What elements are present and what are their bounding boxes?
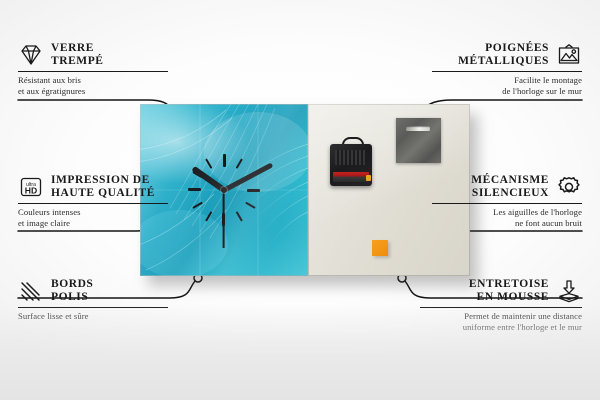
gear-icon [556, 175, 582, 199]
ultra-hd-large-text: HD [25, 185, 37, 195]
callout-sub-line1: Permet de maintenir une distance [420, 311, 582, 322]
callout-rule [18, 71, 168, 72]
callout-entretoise-en-mousse[interactable]: ENTRETOISE EN MOUSSE Permet de maintenir… [420, 278, 582, 333]
callout-title-line1: ENTRETOISE [469, 278, 549, 291]
polished-edges-icon [18, 279, 44, 303]
callout-bords-polis[interactable]: BORDS POLIS Surface lisse et sûre [18, 278, 168, 322]
callout-header: MÉCANISME SILENCIEUX [432, 174, 582, 199]
foam-spacer [372, 240, 388, 256]
callout-rule [18, 307, 168, 308]
callout-header: BORDS POLIS [18, 278, 168, 303]
callout-rule [432, 203, 582, 204]
callout-header: ENTRETOISE EN MOUSSE [420, 278, 582, 303]
callout-sub-line1: Les aiguilles de l'horloge [432, 207, 582, 218]
callout-rule [18, 203, 168, 204]
callout-sub-line1: Résistant aux bris [18, 75, 168, 86]
mechanism-body [330, 144, 372, 186]
callout-title-line1: VERRE [51, 42, 104, 55]
diamond-icon [18, 43, 44, 67]
callout-title-line1: POIGNÉES [458, 42, 549, 55]
ultra-hd-icon: ultra HD [18, 175, 44, 199]
callout-title-line2: TREMPÉ [51, 55, 104, 68]
callout-poignees-metalliques[interactable]: POIGNÉES MÉTALLIQUES Facilite le montage… [432, 42, 582, 97]
battery [333, 172, 369, 182]
battery-terminal [366, 175, 371, 181]
callout-sub-line2: de l'horloge sur le mur [432, 86, 582, 97]
callout-verre-trempe[interactable]: VERRE TREMPÉ Résistant aux bris et aux é… [18, 42, 168, 97]
callout-sub-line1: Facilite le montage [432, 75, 582, 86]
callout-mecanisme-silencieux[interactable]: MÉCANISME SILENCIEUX Les aiguilles de l'… [432, 174, 582, 229]
callout-title-line2: SILENCIEUX [471, 187, 549, 200]
callout-sub-line2: et image claire [18, 218, 168, 229]
callout-title-line1: IMPRESSION DE [51, 174, 155, 187]
callout-header: ultra HD IMPRESSION DE HAUTE QUALITÉ [18, 174, 168, 199]
callout-sub-line2: ne font aucun bruit [432, 218, 582, 229]
callout-sub-line1: Couleurs intenses [18, 207, 168, 218]
infographic-stage: VERRE TREMPÉ Résistant aux bris et aux é… [0, 0, 600, 400]
callout-title-line2: MÉTALLIQUES [458, 55, 549, 68]
picture-frame-hanger-icon [556, 43, 582, 67]
metal-hanger-plate [396, 118, 441, 163]
callout-sub-line2: et aux égratignures [18, 86, 168, 97]
callout-rule [420, 307, 582, 308]
callout-header: POIGNÉES MÉTALLIQUES [432, 42, 582, 67]
hanger-slot [406, 126, 430, 131]
foam-spacer-icon [556, 279, 582, 303]
callout-sub-line1: Surface lisse et sûre [18, 311, 168, 322]
callout-title-line2: EN MOUSSE [469, 291, 549, 304]
callout-header: VERRE TREMPÉ [18, 42, 168, 67]
clock-mechanism [330, 144, 372, 186]
mechanism-grill [335, 150, 367, 165]
callout-rule [432, 71, 582, 72]
callout-title-line1: BORDS [51, 278, 93, 291]
callout-title-line2: POLIS [51, 291, 93, 304]
callout-title-line1: MÉCANISME [471, 174, 549, 187]
callout-title-line2: HAUTE QUALITÉ [51, 187, 155, 200]
product-visual [140, 104, 470, 280]
callout-sub-line2: uniforme entre l'horloge et le mur [420, 322, 582, 333]
callout-impression-haute-qualite[interactable]: ultra HD IMPRESSION DE HAUTE QUALITÉ Cou… [18, 174, 168, 229]
